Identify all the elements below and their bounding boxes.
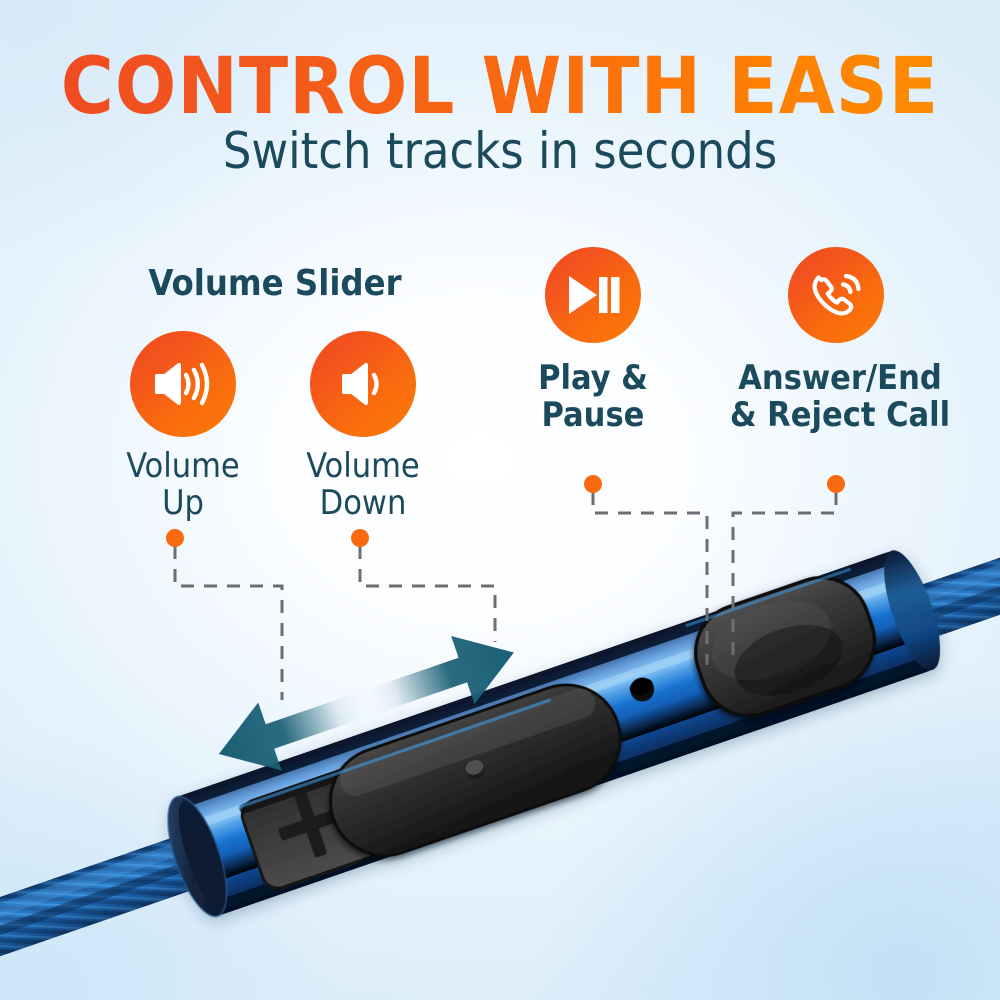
answer-end-call-label-line-2: & Reject Call — [700, 397, 980, 434]
play-pause-label-line-2: Pause — [498, 397, 688, 434]
volume-down-icon-badge[interactable] — [310, 331, 416, 437]
answer-end-call-icon-badge[interactable] — [788, 247, 884, 343]
page-title: CONTROL WITH EASE — [0, 48, 1000, 126]
answer-end-call-label-line-1: Answer/End — [700, 360, 980, 397]
volume-down-label: Volume Down — [258, 448, 468, 521]
answer-end-call-label: Answer/End & Reject Call — [700, 360, 980, 433]
speaker-wave-icon — [337, 358, 389, 410]
volume-up-label-line-1: Volume — [78, 448, 288, 485]
volume-up-label-line-2: Up — [78, 485, 288, 522]
volume-up-icon-badge[interactable] — [130, 331, 236, 437]
page-subtitle: Switch tracks in seconds — [0, 126, 1000, 176]
group-title-volume-slider: Volume Slider — [95, 265, 455, 303]
speaker-waves-icon — [152, 358, 214, 410]
play-pause-icon-badge[interactable] — [545, 247, 641, 343]
play-pause-label: Play & Pause — [498, 360, 688, 433]
infographic-canvas: CONTROL WITH EASE Switch tracks in secon… — [0, 0, 1000, 1000]
phone-call-icon — [808, 268, 864, 322]
play-pause-label-line-1: Play & — [498, 360, 688, 397]
volume-down-label-line-1: Volume — [258, 448, 468, 485]
play-pause-icon — [566, 273, 620, 317]
volume-up-label: Volume Up — [78, 448, 288, 521]
volume-down-label-line-2: Down — [258, 485, 468, 522]
